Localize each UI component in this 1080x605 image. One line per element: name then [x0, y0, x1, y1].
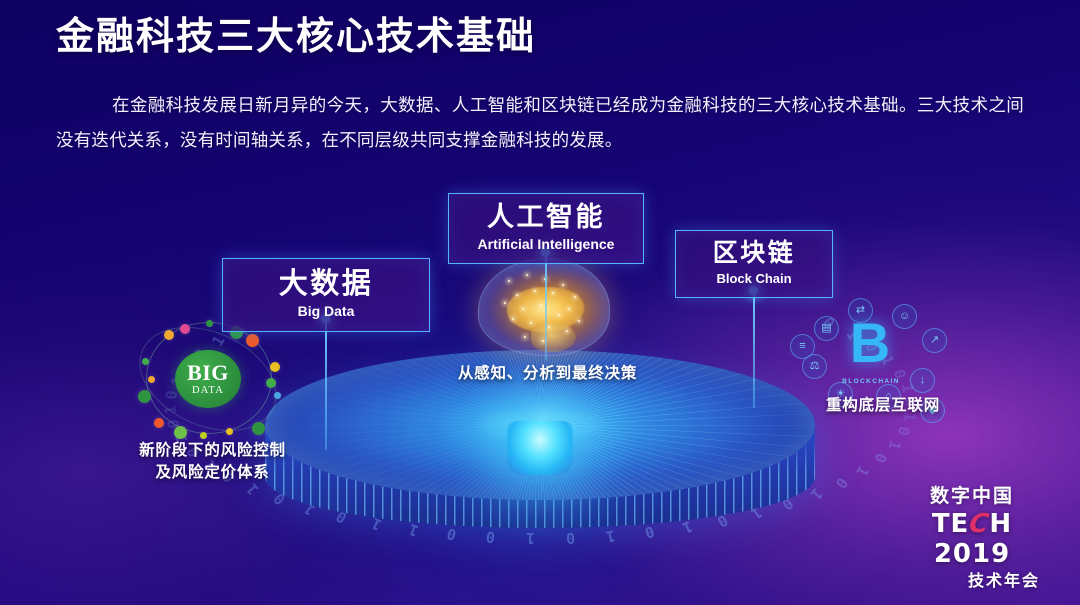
big-data-node-icon [246, 334, 259, 347]
big-data-node-icon [266, 378, 276, 388]
caption-big-data-line1: 新阶段下的风险控制 [105, 440, 320, 462]
blockchain-wordmark: BLOCKCHAIN [836, 378, 906, 385]
logo-tech-pre: TE [932, 509, 970, 539]
big-data-label-big: BIG [187, 362, 229, 384]
logo-line-digital-china: 数字中国 [892, 481, 1052, 508]
label-ai-en: Artificial Intelligence [467, 236, 625, 254]
label-ai-cn: 人工智能 [467, 202, 625, 234]
caption-big-data-line2: 及风险定价体系 [105, 462, 320, 484]
binary-digit: 0 [870, 450, 890, 465]
big-data-node-icon [270, 362, 280, 372]
big-data-node-icon [164, 330, 174, 340]
big-data-node-icon [200, 432, 207, 439]
label-box-block-chain[interactable]: 区块链 Block Chain [675, 230, 833, 298]
bank-icon: ▤ [814, 316, 839, 341]
list-icon: ≡ [790, 334, 815, 359]
big-data-node-icon [274, 392, 281, 399]
binary-digit: 0 [831, 474, 851, 492]
logo-line-annual-conference: 技术年会 [892, 567, 1052, 591]
connector-big-data [325, 318, 327, 450]
big-data-node-icon [206, 320, 213, 327]
big-data-label-data: DATA [192, 385, 224, 396]
logo-line-tech-2019: TECH 2019 [892, 509, 1052, 569]
binary-digit: 0 [894, 425, 913, 437]
page-title: 金融科技三大核心技术基础 [56, 14, 536, 62]
blockchain-b-symbol: B [842, 312, 898, 378]
ai-brain-graphic [478, 258, 610, 356]
brain-stem [531, 323, 576, 352]
label-big-data-cn: 大数据 [241, 267, 411, 301]
binary-digit: 1 [853, 462, 873, 479]
caption-artificial-intelligence: 从感知、分析到最终决策 [440, 363, 655, 385]
label-big-data-en: Big Data [241, 303, 411, 321]
chart-up-icon: ↗ [922, 328, 947, 353]
label-box-artificial-intelligence[interactable]: 人工智能 Artificial Intelligence [448, 193, 644, 264]
caption-block-chain: 重构底层互联网 [798, 395, 968, 417]
download-icon: ↓ [910, 368, 935, 393]
big-data-node-icon [174, 426, 187, 439]
big-data-node-icon [226, 428, 233, 435]
connector-artificial-intelligence [545, 252, 547, 360]
blockchain-icon-cluster: ⇄▤⚖☀⌂↓↗☺≡◆ B BLOCKCHAIN [792, 302, 946, 406]
connector-block-chain [753, 290, 755, 408]
big-data-node-icon [154, 418, 164, 428]
big-data-node-icon [138, 390, 151, 403]
label-block-chain-cn: 区块链 [694, 239, 814, 269]
disc-core-glow [507, 421, 573, 475]
big-data-node-icon [252, 422, 265, 435]
caption-big-data: 新阶段下的风险控制 及风险定价体系 [105, 440, 320, 485]
big-data-core-badge: BIG DATA [175, 350, 241, 408]
label-block-chain-en: Block Chain [694, 271, 814, 287]
slide-canvas: 0101010101010100110101010101010011010101… [0, 0, 1080, 605]
big-data-node-icon [142, 358, 149, 365]
conference-logo: 数字中国 TECH 2019 技术年会 [892, 481, 1052, 591]
big-data-node-icon [148, 376, 155, 383]
big-data-node-icon [180, 324, 190, 334]
binary-digit: 1 [884, 438, 904, 452]
big-data-icon-cluster: BIG DATA [134, 318, 284, 438]
label-box-big-data[interactable]: 大数据 Big Data [222, 258, 430, 332]
body-paragraph: 在金融科技发展日新月异的今天，大数据、人工智能和区块链已经成为金融科技的三大核心… [56, 88, 1024, 158]
